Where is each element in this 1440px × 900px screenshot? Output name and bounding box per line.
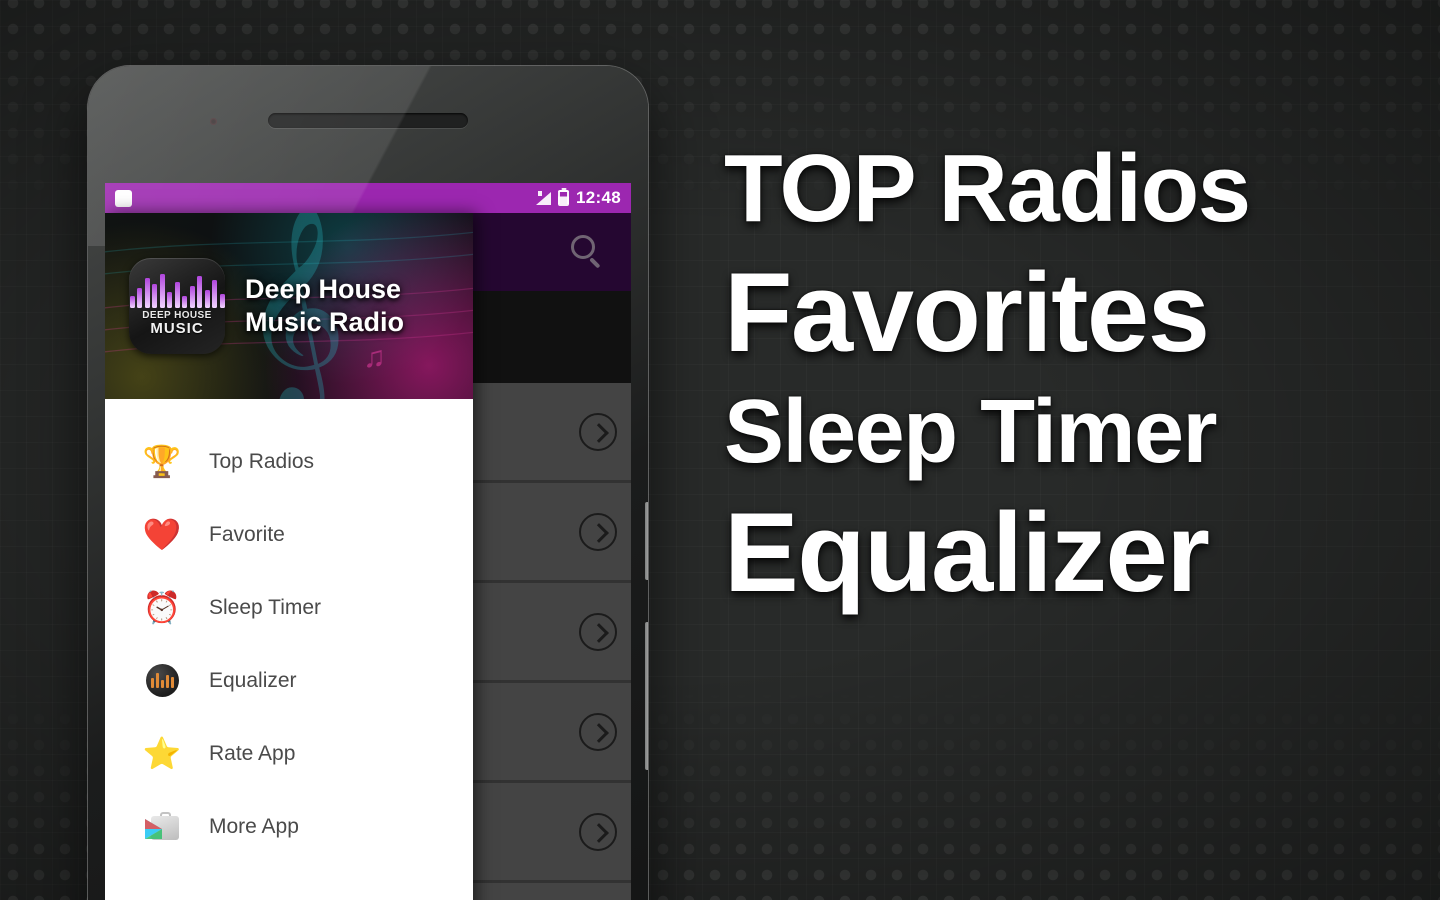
menu-item-equalizer[interactable]: Equalizer bbox=[105, 644, 473, 717]
app-icon-text-line2: MUSIC bbox=[150, 321, 203, 338]
play-store-icon bbox=[143, 808, 181, 846]
menu-item-label: Sleep Timer bbox=[209, 596, 321, 620]
battery-icon bbox=[558, 190, 569, 206]
app-notification-icon bbox=[115, 190, 132, 207]
menu-item-label: Equalizer bbox=[209, 669, 297, 693]
drawer-title-line1: Deep House bbox=[245, 273, 404, 306]
headline-sleep-timer: Sleep Timer bbox=[724, 386, 1404, 479]
menu-item-label: Top Radios bbox=[209, 450, 314, 474]
menu-item-label: Rate App bbox=[209, 742, 295, 766]
trophy-icon: 🏆 bbox=[143, 443, 181, 481]
menu-item-top-radios[interactable]: 🏆 Top Radios bbox=[105, 425, 473, 498]
star-icon: ⭐ bbox=[143, 735, 181, 773]
menu-item-rate-app[interactable]: ⭐ Rate App bbox=[105, 717, 473, 790]
alarm-clock-icon: ⏰ bbox=[143, 589, 181, 627]
phone-top-bezel bbox=[88, 66, 648, 183]
status-bar-time: 12:48 bbox=[576, 188, 621, 208]
app-icon-equalizer-bars bbox=[130, 274, 225, 308]
menu-item-favorite[interactable]: ❤️ Favorite bbox=[105, 498, 473, 571]
phone-mockup: 12:48 Still The Same Me Deep House Radio… bbox=[88, 66, 648, 900]
signal-icon bbox=[536, 192, 551, 205]
drawer-menu: 🏆 Top Radios ❤️ Favorite ⏰ Sleep Timer bbox=[105, 399, 473, 900]
status-bar: 12:48 bbox=[105, 183, 631, 213]
volume-button[interactable] bbox=[645, 622, 648, 770]
navigation-drawer: 𝄞 ♫ DEEP HOUSE MUSIC bbox=[105, 213, 473, 900]
music-note-icon: ♫ bbox=[363, 341, 386, 375]
drawer-title: Deep House Music Radio bbox=[245, 273, 404, 339]
menu-item-label: Favorite bbox=[209, 523, 285, 547]
headline-equalizer: Equalizer bbox=[724, 495, 1404, 610]
drawer-header: 𝄞 ♫ DEEP HOUSE MUSIC bbox=[105, 213, 473, 399]
front-camera bbox=[210, 118, 217, 125]
menu-item-label: More App bbox=[209, 815, 299, 839]
menu-item-more-app[interactable]: More App bbox=[105, 790, 473, 863]
earpiece-speaker bbox=[268, 113, 468, 128]
headline-top-radios: TOP Radios bbox=[724, 140, 1404, 239]
app-icon: DEEP HOUSE MUSIC bbox=[129, 258, 225, 354]
status-bar-right: 12:48 bbox=[536, 188, 621, 208]
equalizer-icon bbox=[143, 662, 181, 700]
menu-item-sleep-timer[interactable]: ⏰ Sleep Timer bbox=[105, 571, 473, 644]
headline-block: TOP Radios Favorites Sleep Timer Equaliz… bbox=[724, 140, 1404, 626]
phone-screen: 12:48 Still The Same Me Deep House Radio… bbox=[105, 183, 631, 900]
power-button[interactable] bbox=[645, 502, 648, 580]
drawer-title-line2: Music Radio bbox=[245, 306, 404, 339]
headline-favorites: Favorites bbox=[724, 255, 1404, 370]
heart-icon: ❤️ bbox=[143, 516, 181, 554]
